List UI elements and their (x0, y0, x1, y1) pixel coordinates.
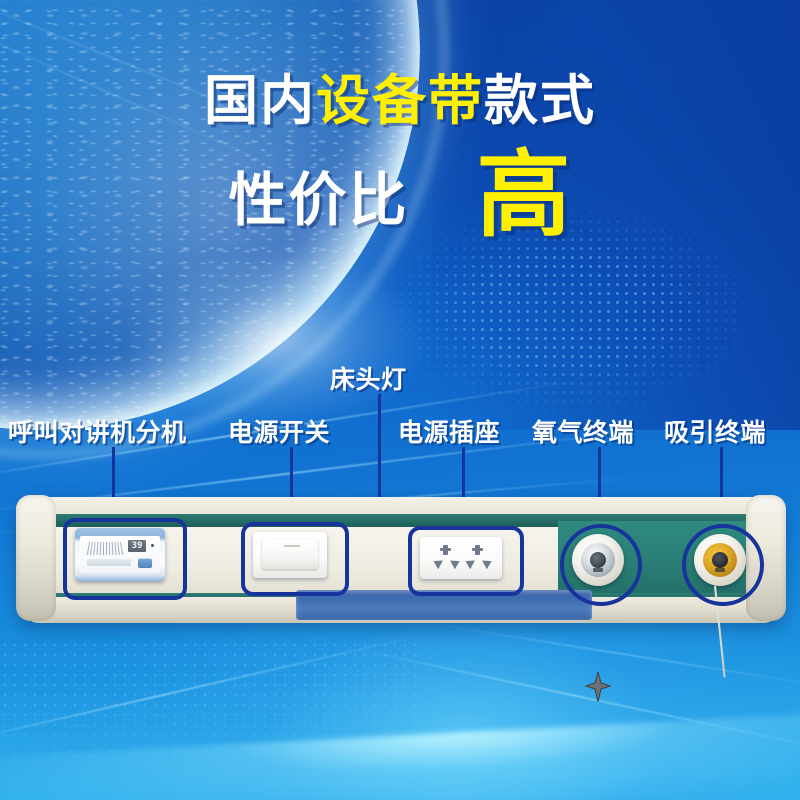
headline-seg-3: 款式 (484, 71, 596, 131)
headline-line-1: 国内设备带款式 (0, 74, 800, 128)
highlight-circle-oxygen (560, 524, 642, 606)
banner-canvas: 国内设备带款式 性价比高 呼叫对讲机分机 电源开关 床头灯 电源插座 氧气终端 … (0, 0, 800, 800)
highlight-box-intercom (63, 518, 187, 600)
callout-label-oxygen-terminal: 氧气终端 (532, 413, 634, 449)
callout-label-suction-terminal: 吸引终端 (664, 413, 766, 449)
callout-label-nurse-call-intercom: 呼叫对讲机分机 (8, 413, 187, 449)
pull-cord-weight-icon[interactable] (585, 672, 611, 702)
highlight-box-power-switch (241, 522, 349, 596)
callout-label-power-socket: 电源插座 (398, 413, 500, 449)
headline-seg-2: 设备带 (316, 71, 484, 131)
callout-label-bed-lamp: 床头灯 (330, 360, 407, 396)
panel-endcap-left (16, 495, 56, 621)
highlight-box-power-socket (408, 526, 524, 596)
headline-emphasis: 高 (477, 148, 572, 242)
callout-label-power-switch: 电源开关 (228, 413, 330, 449)
headline-block: 国内设备带款式 性价比高 (0, 74, 800, 248)
highlight-circle-suction (682, 524, 764, 606)
headline-seg-1: 国内 (204, 71, 316, 131)
headline-line-2: 性价比高 (0, 154, 800, 248)
headline-subtitle: 性价比 (228, 172, 408, 230)
